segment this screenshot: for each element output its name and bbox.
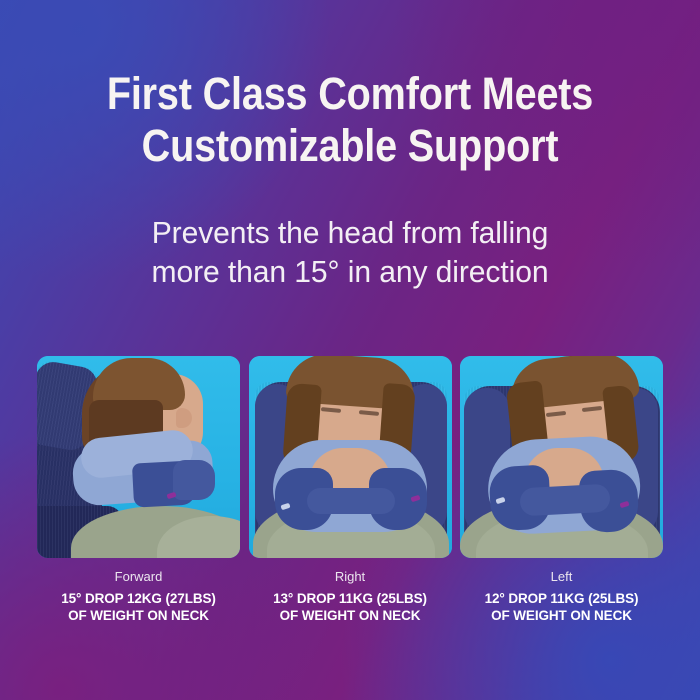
subheadline-line-2: more than 15° in any direction — [11, 252, 690, 291]
panel-left: Left 12° DROP 11KG (25LBS) OF WEIGHT ON … — [460, 356, 663, 624]
photo-panel-row: Forward 15° DROP 12KG (27LBS) OF WEIGHT … — [37, 356, 663, 624]
caption-stat-left: 12° DROP 11KG (25LBS) OF WEIGHT ON NECK — [460, 590, 663, 624]
panel-forward: Forward 15° DROP 12KG (27LBS) OF WEIGHT … — [37, 356, 240, 624]
caption-label-left: Left — [460, 569, 663, 585]
pillow-chin-strap — [519, 484, 610, 517]
caption-stat-forward: 15° DROP 12KG (27LBS) OF WEIGHT ON NECK — [37, 590, 240, 624]
panel-right: Right 13° DROP 11KG (25LBS) OF WEIGHT ON… — [249, 356, 452, 624]
caption-label-right: Right — [249, 569, 452, 585]
headline: First Class Comfort Meets Customizable S… — [42, 68, 658, 172]
headline-line-1: First Class Comfort Meets — [107, 68, 593, 119]
stat-line-2: OF WEIGHT ON NECK — [249, 607, 452, 624]
stat-line-1: 15° DROP 12KG (27LBS) — [61, 591, 216, 606]
pillow-front-lobe — [173, 460, 215, 500]
caption-label-forward: Forward — [37, 569, 240, 585]
stat-line-1: 12° DROP 11KG (25LBS) — [485, 591, 639, 606]
stat-line-1: 13° DROP 11KG (25LBS) — [273, 591, 427, 606]
headline-line-2: Customizable Support — [42, 120, 658, 172]
stat-line-2: OF WEIGHT ON NECK — [37, 607, 240, 624]
photo-left — [460, 356, 663, 558]
photo-right — [249, 356, 452, 558]
photo-forward — [37, 356, 240, 558]
pillow-chin-strap — [307, 488, 395, 514]
subheadline: Prevents the head from falling more than… — [11, 213, 690, 291]
product-feature-poster: First Class Comfort Meets Customizable S… — [0, 0, 700, 700]
subheadline-line-1: Prevents the head from falling — [152, 215, 549, 250]
caption-stat-right: 13° DROP 11KG (25LBS) OF WEIGHT ON NECK — [249, 590, 452, 624]
stat-line-2: OF WEIGHT ON NECK — [460, 607, 663, 624]
